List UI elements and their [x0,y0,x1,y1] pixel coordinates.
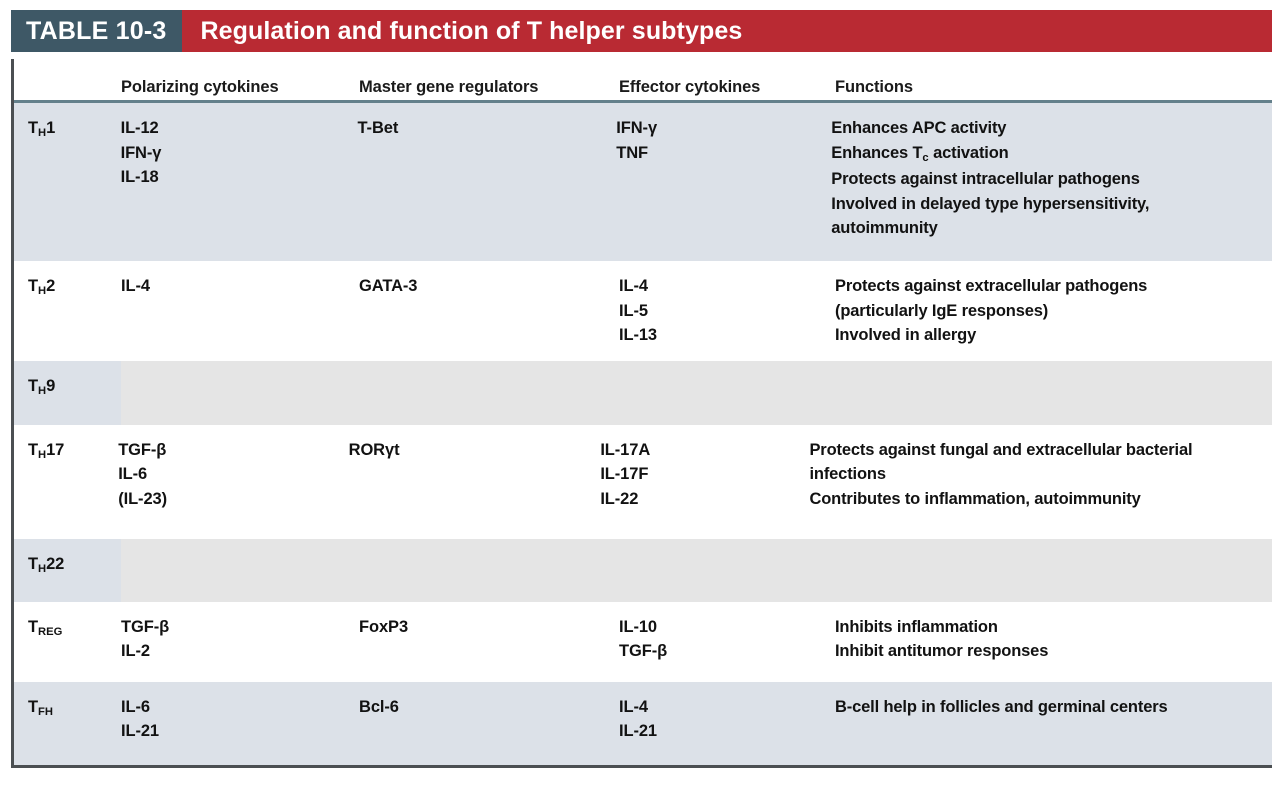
cell-line: IL-22 [600,487,801,512]
cell-master-gene-regulators: GATA-3 [359,261,619,361]
cell-line: TNF [616,141,823,166]
cell-line: Protects against fungal and extracellula… [809,438,1258,487]
row-label-subtype: TH17 [14,425,118,539]
cell-line: IL-13 [619,323,827,348]
cell-effector-cytokines: IFN-γTNF [616,103,831,261]
cell-functions: Inhibits inflammationInhibit antitumor r… [835,602,1272,682]
cell-line: IL-4 [619,274,827,299]
row-label-subtype: TFH [14,682,121,765]
cell-master-gene-regulators: FoxP3 [359,602,619,682]
table-row: TH17TGF-βIL-6(IL-23)RORγtIL-17AIL-17FIL-… [14,425,1272,539]
cell-line: IL-17F [600,462,801,487]
cell-line: IL-21 [121,719,351,744]
cell-line: Protects against extracellular pathogens [835,274,1258,299]
table-row: TH9 [14,361,1272,425]
cell-line: (IL-23) [118,487,340,512]
cell-line: TH22 [28,552,113,579]
column-header-effector-cytokines: Effector cytokines [619,59,835,97]
cell-line: Inhibit antitumor responses [835,639,1258,664]
table-row: TH22 [14,539,1272,602]
cell-effector-cytokines: IL-4IL-21 [619,682,835,765]
cell-line: FoxP3 [359,615,611,640]
row-label-subtype: TH9 [14,361,121,425]
cell-line: TGF-β [121,615,351,640]
table-row: TH2IL-4GATA-3IL-4IL-5IL-13Protects again… [14,261,1272,361]
table-number-badge: TABLE 10-3 [11,10,182,52]
cell-effector-cytokines: IL-4IL-5IL-13 [619,261,835,361]
cell-line: (particularly IgE responses) [835,299,1258,324]
cell-line: GATA-3 [359,274,611,299]
cell-line: RORγt [349,438,593,463]
cell-line: IL-10 [619,615,827,640]
cell-line: Involved in allergy [835,323,1258,348]
cell-functions: Protects against extracellular pathogens… [835,261,1272,361]
cell-effector-cytokines: IL-17AIL-17FIL-22 [600,425,809,539]
cell-line: Inhibits inflammation [835,615,1258,640]
cell-polarizing-cytokines [121,361,359,425]
cell-polarizing-cytokines [121,539,359,602]
cell-line: TH9 [28,374,113,401]
cell-functions: B-cell help in follicles and germinal ce… [835,682,1272,765]
cell-line: IFN-γ [121,141,350,166]
cell-effector-cytokines [619,361,835,425]
column-header-subtype [14,59,121,78]
cell-line: Enhances APC activity [831,116,1258,141]
cell-line: IL-6 [118,462,340,487]
cell-master-gene-regulators [359,361,619,425]
cell-line: TH17 [28,438,110,465]
column-header-polarizing-cytokines: Polarizing cytokines [121,59,359,97]
cell-line: Involved in delayed type hypersensitivit… [831,192,1258,241]
cell-polarizing-cytokines: IL-6IL-21 [121,682,359,765]
cell-polarizing-cytokines: TGF-βIL-6(IL-23) [118,425,348,539]
table-title-bar: TABLE 10-3 Regulation and function of T … [11,10,1272,52]
table-header-row: Polarizing cytokines Master gene regulat… [14,59,1272,103]
table-figure: TABLE 10-3 Regulation and function of T … [0,0,1280,790]
cell-effector-cytokines: IL-10TGF-β [619,602,835,682]
cell-line: IL-12 [121,116,350,141]
cell-line: IFN-γ [616,116,823,141]
cell-line: TH2 [28,274,113,301]
cell-polarizing-cytokines: TGF-βIL-2 [121,602,359,682]
cell-master-gene-regulators: Bcl-6 [359,682,619,765]
cell-line: IL-5 [619,299,827,324]
cell-line: IL-18 [121,165,350,190]
table-row: TREGTGF-βIL-2FoxP3IL-10TGF-βInhibits inf… [14,602,1272,682]
row-label-subtype: TREG [14,602,121,682]
table-row: TH1IL-12IFN-γIL-18T-BetIFN-γTNFEnhances … [14,103,1272,261]
cell-master-gene-regulators: T-Bet [357,103,616,261]
cell-line: IL-6 [121,695,351,720]
cell-line: Protects against intracellular pathogens [831,167,1258,192]
cell-line: IL-4 [619,695,827,720]
row-label-subtype: TH22 [14,539,121,602]
cell-line: TGF-β [118,438,340,463]
cell-functions: Protects against fungal and extracellula… [809,425,1272,539]
cell-line: Enhances Tc activation [831,141,1258,168]
cell-line: Contributes to inflammation, autoimmunit… [809,487,1258,512]
cell-functions [835,361,1272,425]
cell-polarizing-cytokines: IL-12IFN-γIL-18 [121,103,358,261]
cell-line: T-Bet [357,116,608,141]
cell-functions: Enhances APC activityEnhances Tc activat… [831,103,1272,261]
cell-master-gene-regulators: RORγt [349,425,601,539]
cell-line: TH1 [28,116,113,143]
cell-line: IL-2 [121,639,351,664]
row-label-subtype: TH2 [14,261,121,361]
cell-master-gene-regulators [359,539,619,602]
cell-line: IL-21 [619,719,827,744]
column-header-master-gene-regulators: Master gene regulators [359,59,619,97]
cell-line: IL-17A [600,438,801,463]
cell-functions [835,539,1272,602]
column-header-functions: Functions [835,59,1272,97]
table-row: TFHIL-6IL-21Bcl-6IL-4IL-21B-cell help in… [14,682,1272,765]
cell-polarizing-cytokines: IL-4 [121,261,359,361]
cell-line: Bcl-6 [359,695,611,720]
row-label-subtype: TH1 [14,103,121,261]
table-body: Polarizing cytokines Master gene regulat… [11,59,1272,768]
cell-line: IL-4 [121,274,351,299]
cell-line: TGF-β [619,639,827,664]
cell-effector-cytokines [619,539,835,602]
table-rows: TH1IL-12IFN-γIL-18T-BetIFN-γTNFEnhances … [14,103,1272,765]
table-title: Regulation and function of T helper subt… [182,10,1272,52]
cell-line: TFH [28,695,113,722]
cell-line: B-cell help in follicles and germinal ce… [835,695,1258,720]
cell-line: TREG [28,615,113,642]
